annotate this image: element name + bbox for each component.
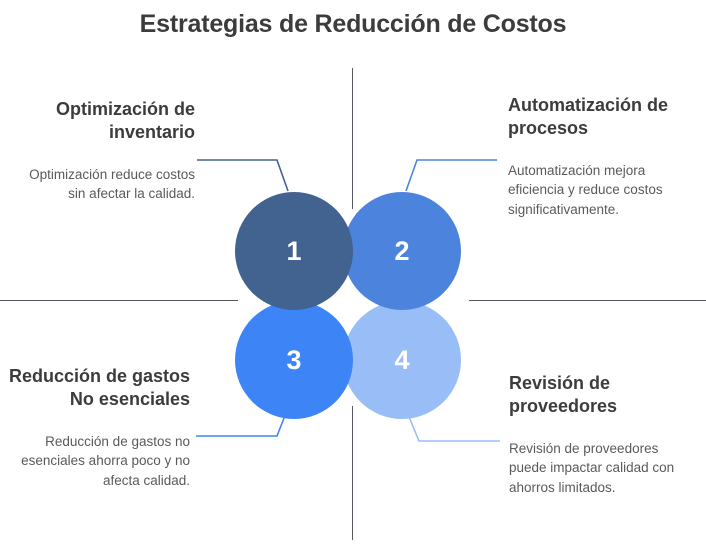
quadrant-bottom-right: Revisión de proveedores Revisión de prov… <box>509 372 699 497</box>
venn-circle-1[interactable]: 1 <box>235 192 353 310</box>
connector-line-top-left <box>197 160 288 191</box>
quadrant-bottom-left-body: Reducción de gastos no esenciales ahorra… <box>8 432 190 491</box>
quadrant-top-left: Optimización de inventario Optimización … <box>10 98 195 204</box>
quadrant-top-right-body: Automatización mejora eficiencia y reduc… <box>508 161 688 220</box>
infographic-canvas: Estrategias de Reducción de Costos 1 2 3… <box>0 0 706 546</box>
divider-horizontal-left <box>0 300 238 301</box>
page-title: Estrategias de Reducción de Costos <box>0 10 706 39</box>
quadrant-top-right-heading: Automatización de procesos <box>508 94 688 141</box>
quadrant-top-left-body: Optimización reduce costos sin afectar l… <box>10 165 195 204</box>
connector-line-top-right <box>406 160 497 191</box>
venn-circle-4[interactable]: 4 <box>343 301 461 419</box>
venn-circle-2-number: 2 <box>394 236 409 267</box>
quadrant-bottom-right-heading: Revisión de proveedores <box>509 372 699 419</box>
venn-circle-4-number: 4 <box>394 345 409 376</box>
venn-diagram: 1 2 3 4 <box>232 188 472 428</box>
venn-circle-3[interactable]: 3 <box>235 301 353 419</box>
divider-horizontal-right <box>469 300 706 301</box>
venn-circle-2[interactable]: 2 <box>343 192 461 310</box>
venn-circle-3-number: 3 <box>286 345 301 376</box>
quadrant-bottom-left-heading: Reducción de gastos No esenciales <box>8 365 190 412</box>
quadrant-top-left-heading: Optimización de inventario <box>10 98 195 145</box>
quadrant-bottom-left: Reducción de gastos No esenciales Reducc… <box>8 365 190 490</box>
quadrant-bottom-right-body: Revisión de proveedores puede impactar c… <box>509 439 699 498</box>
quadrant-top-right: Automatización de procesos Automatizació… <box>508 94 688 219</box>
venn-circle-1-number: 1 <box>286 236 301 267</box>
